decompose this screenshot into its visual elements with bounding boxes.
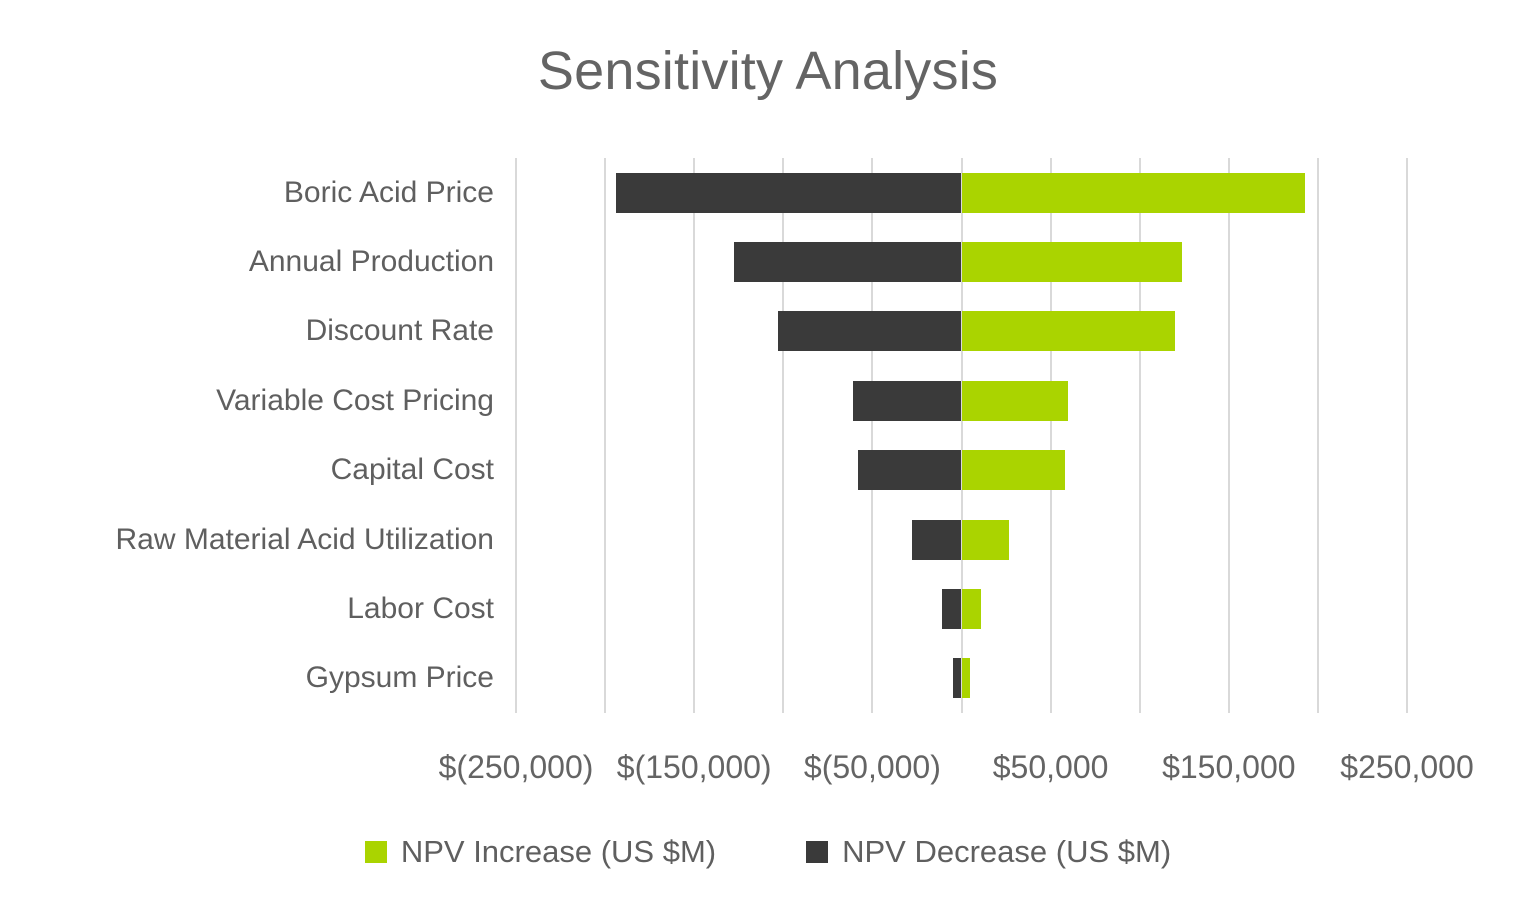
category-label: Gypsum Price <box>0 663 494 693</box>
bar-npv-increase[interactable] <box>962 450 1065 490</box>
bar-npv-decrease[interactable] <box>912 520 961 560</box>
bar-npv-decrease[interactable] <box>778 311 962 351</box>
legend-label: NPV Increase (US $M) <box>401 836 716 867</box>
bar-row[interactable] <box>516 436 1407 505</box>
bar-row[interactable] <box>516 574 1407 643</box>
bar-row[interactable] <box>516 644 1407 713</box>
bar-npv-decrease[interactable] <box>858 450 961 490</box>
legend-swatch-decrease <box>806 841 828 863</box>
bar-row[interactable] <box>516 227 1407 296</box>
bar-npv-increase[interactable] <box>962 242 1183 282</box>
legend-swatch-increase <box>365 841 387 863</box>
category-label: Boric Acid Price <box>0 178 494 208</box>
chart-legend: NPV Increase (US $M)NPV Decrease (US $M) <box>0 836 1536 867</box>
x-axis-tick-label: $250,000 <box>1340 748 1473 786</box>
bar-npv-decrease[interactable] <box>953 658 961 698</box>
chart-title: Sensitivity Analysis <box>0 42 1536 101</box>
x-axis-tick-label: $(150,000) <box>617 748 772 786</box>
bar-row[interactable] <box>516 297 1407 366</box>
category-label: Variable Cost Pricing <box>0 386 494 416</box>
bar-npv-increase[interactable] <box>962 311 1176 351</box>
sensitivity-analysis-chart: Sensitivity Analysis Boric Acid PriceAnn… <box>0 0 1536 922</box>
x-axis-tick-label: $150,000 <box>1162 748 1295 786</box>
bar-row[interactable] <box>516 158 1407 227</box>
category-label: Labor Cost <box>0 594 494 624</box>
category-label: Raw Material Acid Utilization <box>0 525 494 555</box>
category-label: Capital Cost <box>0 455 494 485</box>
bar-npv-increase[interactable] <box>962 520 1009 560</box>
bar-npv-decrease[interactable] <box>853 381 962 421</box>
bar-npv-decrease[interactable] <box>734 242 961 282</box>
bar-row[interactable] <box>516 505 1407 574</box>
legend-item[interactable]: NPV Decrease (US $M) <box>806 836 1171 867</box>
bar-rows <box>516 158 1407 713</box>
x-axis-tick-label: $(250,000) <box>439 748 594 786</box>
legend-label: NPV Decrease (US $M) <box>842 836 1171 867</box>
bar-npv-increase[interactable] <box>962 173 1306 213</box>
bar-npv-increase[interactable] <box>962 589 982 629</box>
bar-row[interactable] <box>516 366 1407 435</box>
x-axis-tick-label: $(50,000) <box>804 748 941 786</box>
category-axis-labels: Boric Acid PriceAnnual ProductionDiscoun… <box>0 158 494 713</box>
plot-area <box>516 158 1407 713</box>
bar-npv-increase[interactable] <box>962 658 970 698</box>
x-axis-tick-labels: $(250,000)$(150,000)$(50,000)$50,000$150… <box>0 748 1536 796</box>
x-axis-tick-label: $50,000 <box>993 748 1109 786</box>
legend-item[interactable]: NPV Increase (US $M) <box>365 836 716 867</box>
bar-npv-decrease[interactable] <box>942 589 962 629</box>
category-label: Annual Production <box>0 247 494 277</box>
bar-npv-decrease[interactable] <box>616 173 962 213</box>
category-label: Discount Rate <box>0 316 494 346</box>
bar-npv-increase[interactable] <box>962 381 1069 421</box>
